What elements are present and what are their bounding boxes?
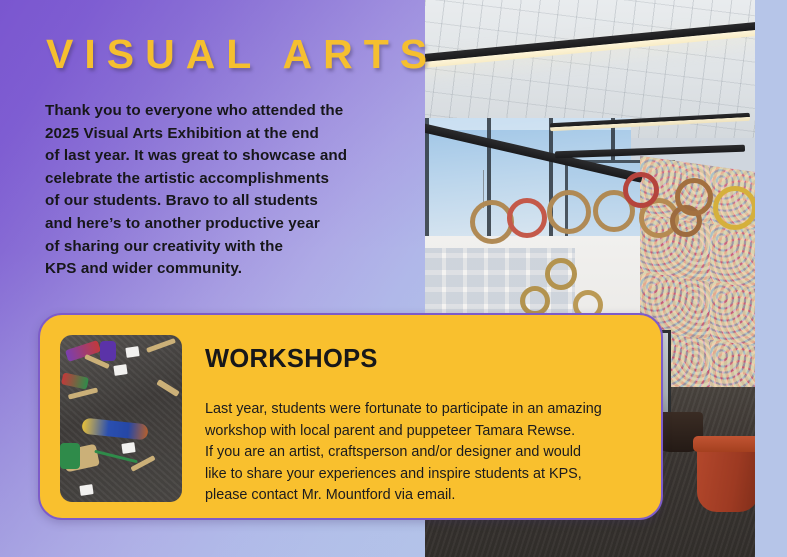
workshops-card: WORKSHOPS Last year, students were fortu… (38, 313, 663, 520)
intro-line: of our students. Bravo to all students (45, 190, 420, 213)
intro-line: Thank you to everyone who attended the (45, 100, 420, 123)
intro-line: of sharing our creativity with the (45, 236, 420, 259)
intro-line: KPS and wider community. (45, 258, 420, 281)
photo-hanging-wreath (675, 178, 713, 216)
thumbnail-texture (60, 335, 182, 502)
photo-hanging-wreath (520, 286, 550, 316)
newsletter-page: VISUAL ARTS Thank you to everyone who at… (0, 0, 787, 557)
thumbnail-label-tag (121, 442, 135, 454)
thumbnail-craft-detail (100, 341, 116, 361)
workshops-body-line: please contact Mr. Mountford via email. (205, 485, 665, 507)
intro-line: celebrate the artistic accomplishments (45, 168, 420, 191)
page-title: VISUAL ARTS (46, 34, 438, 75)
photo-hanging-wreath (713, 186, 755, 230)
photo-hanging-wreath (547, 190, 591, 234)
workshop-thumbnail-photo (60, 335, 182, 502)
intro-line: 2025 Visual Arts Exhibition at the end (45, 123, 420, 146)
photo-hanging-wreath (545, 258, 577, 290)
photo-hanging-wreath (623, 172, 659, 208)
intro-line: and here’s to another productive year (45, 213, 420, 236)
thumbnail-craft-detail (60, 443, 80, 469)
thumbnail-label-tag (113, 364, 127, 376)
intro-line: of last year. It was great to showcase a… (45, 145, 420, 168)
intro-text: Thank you to everyone who attended the 2… (45, 100, 420, 281)
workshops-body-line: like to share your experiences and inspi… (205, 464, 665, 486)
photo-hanging-wreath (507, 198, 547, 238)
workshops-body-line: workshop with local parent and puppeteer… (205, 421, 665, 443)
thumbnail-label-tag (79, 484, 93, 496)
workshops-body-text: Last year, students were fortunate to pa… (205, 399, 665, 507)
thumbnail-label-tag (125, 346, 139, 358)
workshops-body-line: If you are an artist, craftsperson and/o… (205, 442, 665, 464)
workshops-heading: WORKSHOPS (205, 345, 378, 374)
workshops-body-line: Last year, students were fortunate to pa… (205, 399, 665, 421)
photo-plant-pot-terracotta (697, 442, 755, 512)
